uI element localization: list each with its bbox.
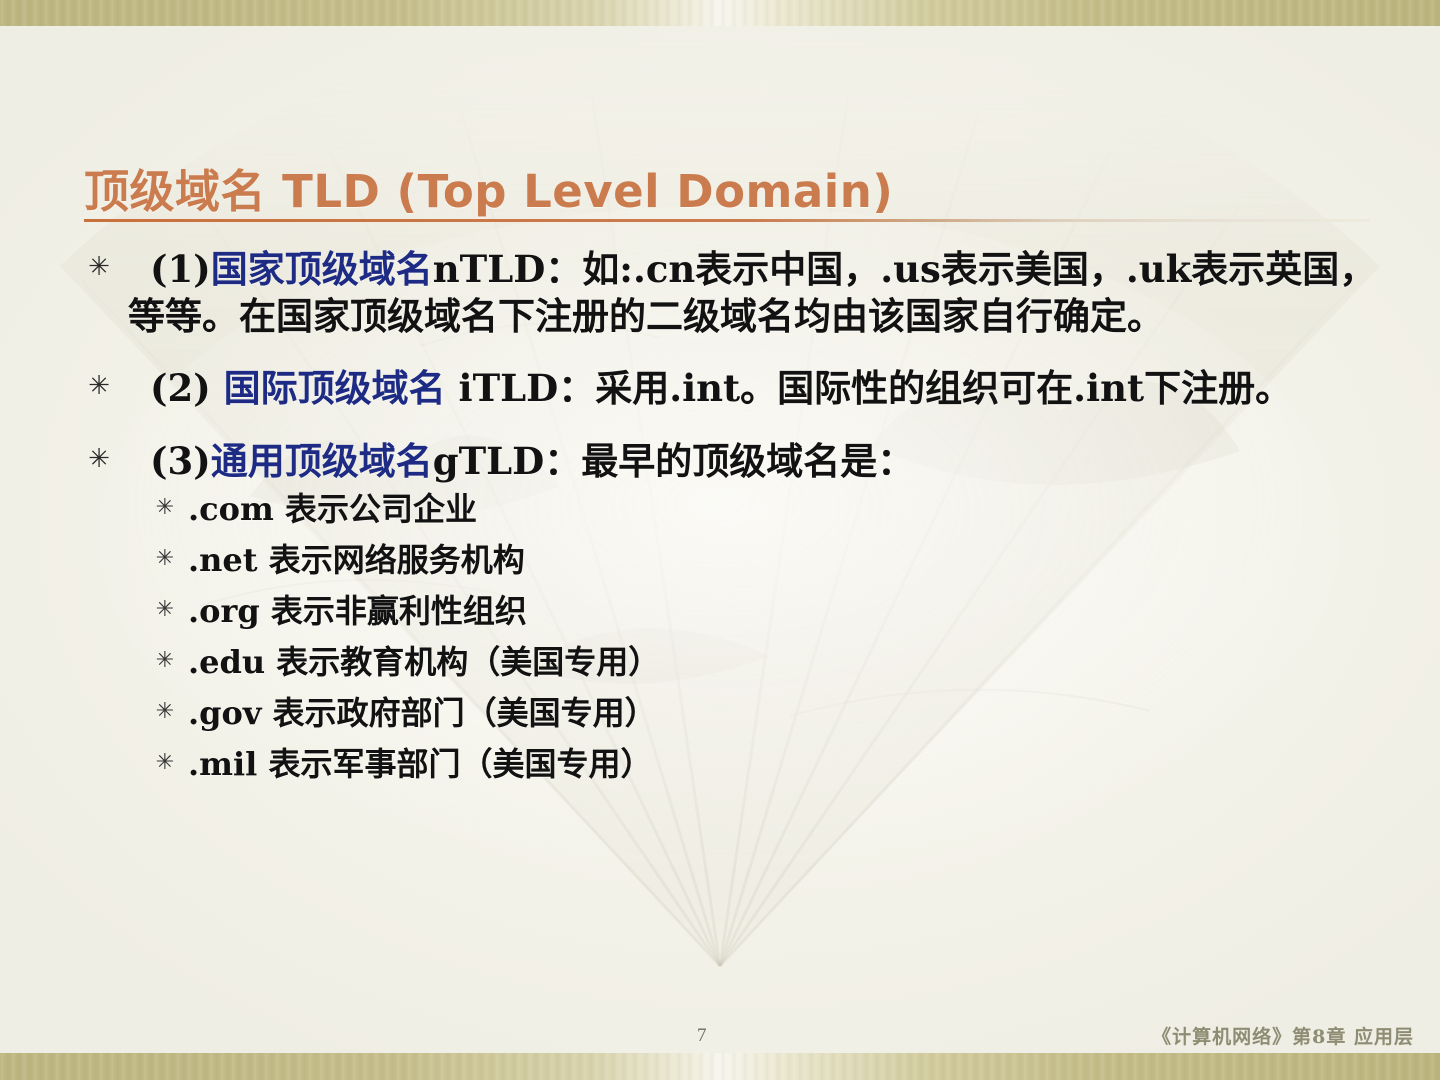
sub-bullet-asterisk-icon: ✳ <box>152 752 178 774</box>
list-item: ✳ .net 表示网络服务机构 <box>152 539 1384 590</box>
slide: 顶级域名 TLD (Top Level Domain) ✳ (1)国家顶级域名n… <box>0 0 1440 1080</box>
list-item: ✳ .org 表示非赢利性组织 <box>152 590 1384 641</box>
bullet-text-2: (2) 国际顶级域名 iTLD：采用.int。国际性的组织可在.int下注册。 <box>128 365 1384 412</box>
list-item: ✳ .mil 表示军事部门（美国专用） <box>152 743 1384 794</box>
sub-bullet-asterisk-icon: ✳ <box>152 701 178 723</box>
slide-content: 顶级域名 TLD (Top Level Domain) ✳ (1)国家顶级域名n… <box>0 0 1440 1080</box>
bullet-asterisk-icon: ✳ <box>84 446 114 472</box>
bullet-item-1: ✳ (1)国家顶级域名nTLD：如:.cn表示中国，.us表示美国，.uk表示英… <box>84 246 1384 339</box>
bullet-item-2: ✳ (2) 国际顶级域名 iTLD：采用.int。国际性的组织可在.int下注册… <box>84 365 1384 412</box>
sub-item-label: .net 表示网络服务机构 <box>188 539 1384 582</box>
sub-item-label: .gov 表示政府部门（美国专用） <box>188 692 1384 735</box>
sub-bullet-asterisk-icon: ✳ <box>152 650 178 672</box>
bullet-term-2: 国际顶级域名 <box>211 366 459 410</box>
bullet-text-1: (1)国家顶级域名nTLD：如:.cn表示中国，.us表示美国，.uk表示英国，… <box>128 246 1384 339</box>
bullet-item-3: ✳ (3)通用顶级域名gTLD：最早的顶级域名是： <box>84 438 1384 485</box>
bullet-text-3: (3)通用顶级域名gTLD：最早的顶级域名是： <box>128 438 1384 485</box>
slide-title-area: 顶级域名 TLD (Top Level Domain) <box>84 168 1374 222</box>
sub-item-label: .mil 表示军事部门（美国专用） <box>188 743 1384 786</box>
gtld-sublist: ✳ .com 表示公司企业 ✳ .net 表示网络服务机构 ✳ .org 表示非… <box>152 488 1384 794</box>
sub-item-label: .org 表示非赢利性组织 <box>188 590 1384 633</box>
bullet-number-3: (3) <box>150 439 211 483</box>
bullet-number-2: (2) <box>150 366 211 410</box>
sub-item-label: .edu 表示教育机构（美国专用） <box>188 641 1384 684</box>
bullet-term-1: 国家顶级域名 <box>211 247 433 291</box>
sub-bullet-asterisk-icon: ✳ <box>152 599 178 621</box>
footer-source-label: 《计算机网络》第8章 应用层 <box>1152 1022 1414 1049</box>
bullet-rest-2: iTLD：采用.int。国际性的组织可在.int下注册。 <box>459 366 1293 410</box>
slide-footer: 7 《计算机网络》第8章 应用层 <box>0 1011 1440 1053</box>
slide-body: ✳ (1)国家顶级域名nTLD：如:.cn表示中国，.us表示美国，.uk表示英… <box>84 246 1384 794</box>
list-item: ✳ .edu 表示教育机构（美国专用） <box>152 641 1384 692</box>
bullet-asterisk-icon: ✳ <box>84 254 114 280</box>
bullet-number-1: (1) <box>150 247 211 291</box>
bullet-asterisk-icon: ✳ <box>84 373 114 399</box>
sub-item-label: .com 表示公司企业 <box>188 488 1384 531</box>
bullet-term-3: 通用顶级域名 <box>211 439 433 483</box>
page-title: 顶级域名 TLD (Top Level Domain) <box>84 168 1374 215</box>
page-number: 7 <box>697 1025 707 1047</box>
title-underline <box>84 219 1370 222</box>
list-item: ✳ .com 表示公司企业 <box>152 488 1384 539</box>
sub-bullet-asterisk-icon: ✳ <box>152 548 178 570</box>
bullet-rest-3: gTLD：最早的顶级域名是： <box>433 439 915 483</box>
sub-bullet-asterisk-icon: ✳ <box>152 497 178 519</box>
list-item: ✳ .gov 表示政府部门（美国专用） <box>152 692 1384 743</box>
